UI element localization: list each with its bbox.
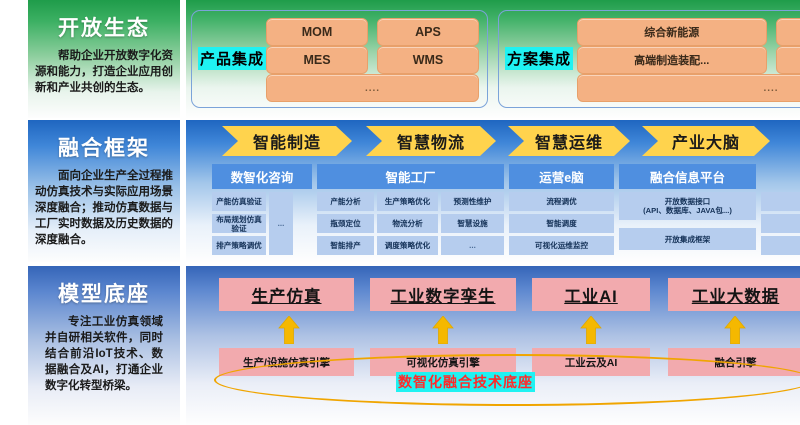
cell-trailing-3[interactable] bbox=[761, 236, 800, 255]
cell-column-factory-3: 预测性维护 智慧设施 ... bbox=[441, 192, 504, 255]
tile-row: .... bbox=[266, 74, 479, 102]
cell-smart-scheduling-plan[interactable]: 智能排产 bbox=[317, 236, 374, 255]
chevron-industry-brain[interactable]: 产业大脑 bbox=[642, 126, 770, 156]
tile-aps[interactable]: APS bbox=[377, 18, 479, 46]
header-operation-ebrain[interactable]: 运营e脑 bbox=[509, 164, 614, 189]
cell-factory-more[interactable]: ... bbox=[441, 236, 504, 255]
row-description-open-ecology: 帮助企业开放数字化资源和能力，打造企业应用创新和产业共创的生态。 bbox=[28, 48, 180, 96]
cell-column-trailing bbox=[761, 192, 800, 255]
cell-smart-facility[interactable]: 智慧设施 bbox=[441, 214, 504, 233]
row-model-base: 模型底座 专注工业仿真领域并自研相关软件，同时结合前沿IoT技术、数据融合及AI… bbox=[0, 266, 800, 425]
group-box-product-integration: 产品集成 MOM APS MES WMS .... bbox=[191, 10, 488, 108]
row-title-fusion-framework: 融合框架 bbox=[58, 132, 150, 162]
cell-logistics-analysis[interactable]: 物流分析 bbox=[377, 214, 438, 233]
tile-new-energy[interactable]: 综合新能源 bbox=[577, 18, 767, 46]
cell-column-operations: 流程调优 智能调度 可视化运维监控 bbox=[509, 192, 614, 255]
pillar-industrial-big-data[interactable]: 工业大数据 bbox=[668, 278, 800, 311]
cell-process-tuning[interactable]: 流程调优 bbox=[509, 192, 614, 211]
pillar-production-simulation[interactable]: 生产仿真 bbox=[219, 278, 354, 311]
tile-mom[interactable]: MOM bbox=[266, 18, 368, 46]
cell-open-integration-framework[interactable]: 开放集成框架 bbox=[619, 228, 756, 250]
tile-wrap-product-integration: MOM APS MES WMS .... bbox=[266, 18, 479, 100]
group-label-solution-integration: 方案集成 bbox=[505, 47, 573, 70]
cell-capacity-sim-validation[interactable]: 产能仿真验证 bbox=[212, 192, 266, 211]
cell-capacity-analysis[interactable]: 产能分析 bbox=[317, 192, 374, 211]
up-arrow-icon bbox=[278, 316, 300, 344]
left-panel-model-base: 模型底座 专注工业仿真领域并自研相关软件，同时结合前沿IoT技术、数据融合及AI… bbox=[28, 266, 180, 425]
tile-smart-city-park[interactable]: 智慧城市/园区 bbox=[776, 46, 800, 74]
group-box-solution-integration: 方案集成 综合新能源 烟草、国网 高端制造装配... 智慧城市/园区 .... bbox=[498, 10, 800, 108]
cell-column-consulting: 产能仿真验证 布局规划仿真验证 排产策略调优 bbox=[212, 192, 266, 255]
right-panel-model-base: 生产仿真 工业数字孪生 工业AI 工业大数据 生产/设施仿真引擎 可视化仿真引擎… bbox=[186, 266, 800, 425]
cell-production-strategy-optimization[interactable]: 生产策略优化 bbox=[377, 192, 438, 211]
tile-mes[interactable]: MES bbox=[266, 46, 368, 74]
chevron-smart-manufacturing[interactable]: 智能制造 bbox=[222, 126, 352, 156]
row-description-fusion-framework: 面向企业生产全过程推动仿真技术与实际应用场景深度融合；推动仿真数据与工厂实时数据… bbox=[28, 168, 180, 248]
group-label-product-integration: 产品集成 bbox=[198, 47, 266, 70]
left-panel-open-ecology: 开放生态 帮助企业开放数字化资源和能力，打造企业应用创新和产业共创的生态。 bbox=[28, 0, 180, 118]
tile-high-end-manufacturing[interactable]: 高端制造装配... bbox=[577, 46, 767, 74]
pillar-industrial-digital-twin[interactable]: 工业数字孪生 bbox=[370, 278, 516, 311]
cell-visual-ops-monitoring[interactable]: 可视化运维监控 bbox=[509, 236, 614, 255]
tile-more-products[interactable]: .... bbox=[266, 74, 479, 102]
slide-root: 开放生态 帮助企业开放数字化资源和能力，打造企业应用创新和产业共创的生态。 产品… bbox=[0, 0, 800, 425]
cell-layout-plan-sim-validation[interactable]: 布局规划仿真验证 bbox=[212, 214, 266, 233]
header-fusion-info-platform[interactable]: 融合信息平台 bbox=[619, 164, 756, 189]
row-open-ecology: 开放生态 帮助企业开放数字化资源和能力，打造企业应用创新和产业共创的生态。 产品… bbox=[0, 0, 800, 118]
row-title-open-ecology: 开放生态 bbox=[58, 12, 150, 42]
row-fusion-framework: 融合框架 面向企业生产全过程推动仿真技术与实际应用场景深度融合；推动仿真数据与工… bbox=[0, 120, 800, 262]
row-description-model-base: 专注工业仿真领域并自研相关软件，同时结合前沿IoT技术、数据融合及AI，打通企业… bbox=[38, 314, 170, 394]
cell-dispatch-strategy-optimization[interactable]: 调度策略优化 bbox=[377, 236, 438, 255]
right-panel-fusion-framework: 智能制造 智慧物流 智慧运维 产业大脑 数智化咨询 智能工厂 运营e脑 融合信息… bbox=[186, 120, 800, 262]
header-smart-factory[interactable]: 智能工厂 bbox=[317, 164, 504, 189]
tile-row: 综合新能源 烟草、国网 bbox=[577, 18, 800, 46]
cell-intelligent-dispatch[interactable]: 智能调度 bbox=[509, 214, 614, 233]
tile-wms[interactable]: WMS bbox=[377, 46, 479, 74]
foundation-label: 数智化融合技术底座 bbox=[396, 372, 535, 392]
chevron-smart-operations[interactable]: 智慧运维 bbox=[508, 126, 630, 156]
tile-row: MES WMS bbox=[266, 46, 479, 74]
cell-trailing-2[interactable] bbox=[761, 214, 800, 233]
pillar-industrial-ai[interactable]: 工业AI bbox=[532, 278, 650, 311]
header-digital-consulting[interactable]: 数智化咨询 bbox=[212, 164, 312, 189]
cell-predictive-maintenance[interactable]: 预测性维护 bbox=[441, 192, 504, 211]
tile-row: .... bbox=[577, 74, 800, 102]
tile-more-solutions[interactable]: .... bbox=[577, 74, 800, 102]
row-title-model-base: 模型底座 bbox=[58, 278, 150, 308]
tile-row: 高端制造装配... 智慧城市/园区 bbox=[577, 46, 800, 74]
cell-column-factory-2: 生产策略优化 物流分析 调度策略优化 bbox=[377, 192, 438, 255]
tile-tobacco-grid[interactable]: 烟草、国网 bbox=[776, 18, 800, 46]
cell-bottleneck-location[interactable]: 瓶颈定位 bbox=[317, 214, 374, 233]
cell-column-factory-1: 产能分析 瓶颈定位 智能排产 bbox=[317, 192, 374, 255]
cell-column-consulting-more: ... bbox=[269, 192, 293, 255]
cell-consulting-more[interactable]: ... bbox=[269, 192, 293, 255]
up-arrow-icon bbox=[724, 316, 746, 344]
tile-row: MOM APS bbox=[266, 18, 479, 46]
up-arrow-icon bbox=[580, 316, 602, 344]
cell-open-data-interface[interactable]: 开放数据接口 (API、数据库、JAVA包...) bbox=[619, 192, 756, 220]
cell-production-strategy-tuning[interactable]: 排产策略调优 bbox=[212, 236, 266, 255]
tile-wrap-solution-integration: 综合新能源 烟草、国网 高端制造装配... 智慧城市/园区 .... bbox=[577, 18, 800, 100]
cell-trailing-1[interactable] bbox=[761, 192, 800, 211]
right-panel-open-ecology: 产品集成 MOM APS MES WMS .... bbox=[186, 0, 800, 118]
left-panel-fusion-framework: 融合框架 面向企业生产全过程推动仿真技术与实际应用场景深度融合；推动仿真数据与工… bbox=[28, 120, 180, 262]
cell-column-platform: 开放数据接口 (API、数据库、JAVA包...) 开放集成框架 bbox=[619, 192, 756, 250]
up-arrow-icon bbox=[432, 316, 454, 344]
chevron-smart-logistics[interactable]: 智慧物流 bbox=[366, 126, 496, 156]
